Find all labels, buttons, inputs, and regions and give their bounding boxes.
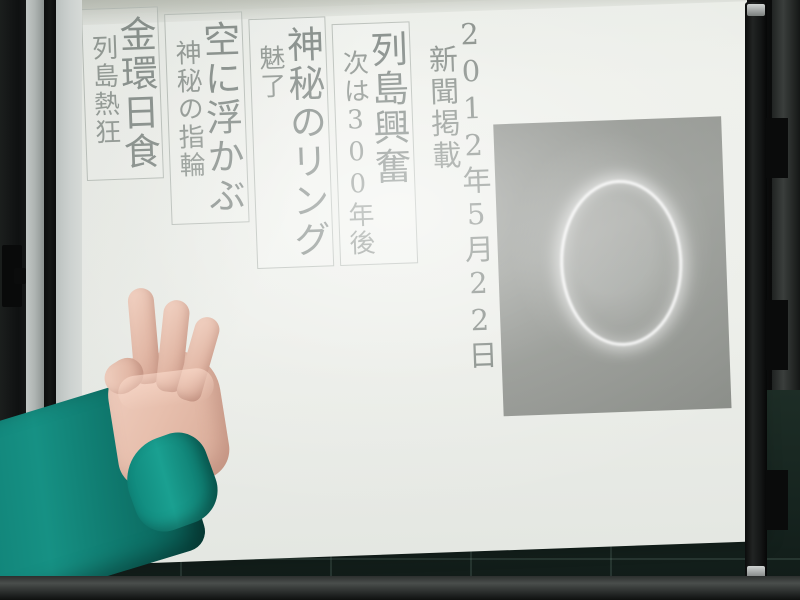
headline-text: 神秘のリング: [282, 25, 328, 260]
pole-bracket-mid: [766, 300, 788, 370]
headline-column-3: 神秘のリング 魅了: [248, 16, 334, 269]
headline-column-1: 金環日食 列島熱狂: [81, 6, 165, 181]
pole-cap-top: [747, 4, 765, 16]
subheadline-text: 列島熱狂: [88, 34, 120, 173]
eclipse-photo: [493, 116, 731, 416]
headline-text: 空に浮かぶ: [198, 20, 243, 216]
subheadline-text: 次は300年後: [339, 49, 374, 258]
pole-bracket-lower: [766, 470, 788, 530]
pole-bracket-upper: [766, 118, 788, 178]
screenshot-scene: 2012年5月22日 新聞掲載 列島興奮 次は300年後 神秘のリング 魅了 空…: [0, 0, 800, 600]
rolled-screen-pole: [745, 2, 767, 587]
board-ledge: [0, 576, 800, 600]
headline-column-4: 列島興奮 次は300年後: [332, 21, 418, 266]
door-latch-nub-icon: [14, 268, 26, 284]
headline-column-2: 空に浮かぶ 神秘の指輪: [164, 11, 249, 225]
subheadline-text: 神秘の指輪: [171, 39, 205, 217]
publication-date: 2012年5月22日 新聞掲載: [425, 17, 496, 374]
headline-text: 金環日食: [114, 15, 158, 172]
